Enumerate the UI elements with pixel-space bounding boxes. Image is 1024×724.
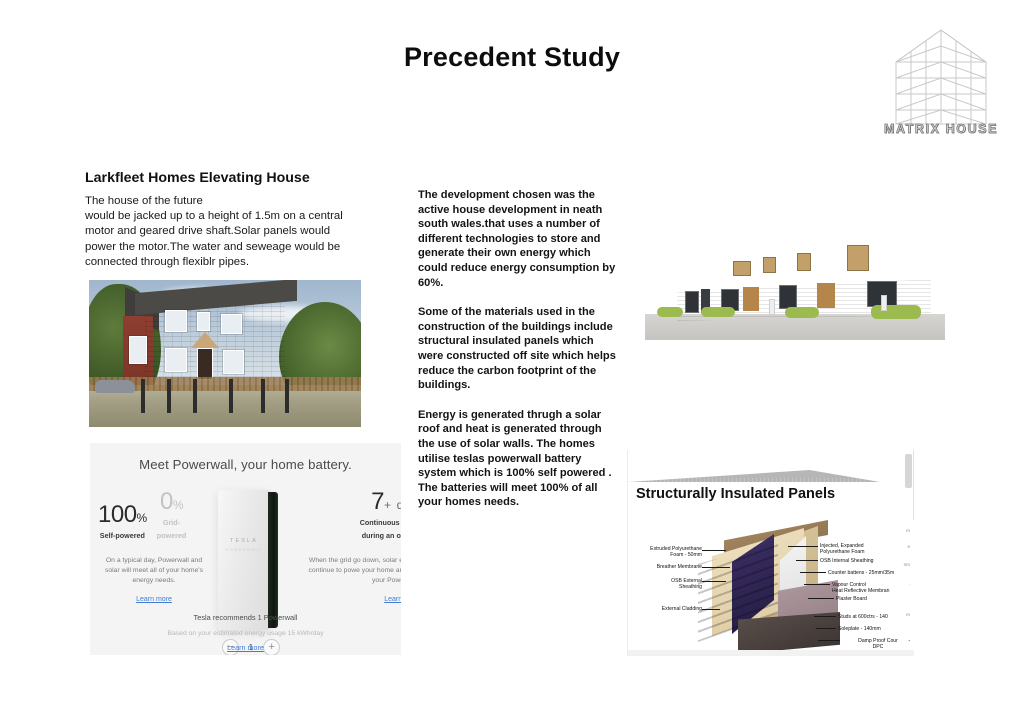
sip-label-extruded-foam: Extruded Polyurethane Foam - 50mm — [628, 546, 702, 559]
outage-label-line1: Continuous powe — [308, 518, 401, 527]
sip-leader-line — [702, 567, 730, 568]
powerwall-grid-powered-stat: 0% Grid- powered — [157, 490, 187, 540]
photo-stilt — [167, 379, 171, 413]
sip-label-counter-battens: Counter battens - 25mm/35m — [828, 570, 914, 576]
grid-powered-label-line1: Grid- — [157, 518, 187, 527]
render-bollard — [769, 299, 775, 315]
powerwall-right-blurb: When the grid go down, solar energy cont… — [308, 556, 401, 586]
photo-window — [165, 310, 187, 332]
photo-car — [95, 380, 135, 393]
render-window-dark — [685, 291, 699, 313]
photo-window — [197, 312, 210, 331]
photo-window-bay — [129, 336, 147, 364]
self-powered-value: 100% — [98, 503, 147, 527]
render-window — [763, 257, 776, 273]
sip-leader-line — [808, 598, 834, 599]
render-window — [797, 253, 811, 271]
photo-stilt — [285, 379, 289, 413]
render-window — [847, 245, 869, 271]
render-window — [733, 261, 751, 276]
sip-leader-line — [804, 584, 830, 585]
sip-diagram-panel: Structurally Insulated Panels Extruded P… — [627, 450, 914, 656]
paragraph-materials: Some of the materials used in the constr… — [418, 305, 618, 393]
grid-powered-label-line2: powered — [157, 531, 187, 540]
active-house-render — [645, 195, 945, 340]
powerwall-recommendation: Tesla recommends 1 Powerwall — [90, 613, 401, 622]
sip-label-external-cladding: External Cladding — [628, 606, 702, 612]
sip-leader-line — [800, 572, 826, 573]
slide-canvas: Precedent Study — [0, 0, 1024, 724]
render-hedge — [785, 307, 819, 318]
photo-stilt — [141, 379, 145, 413]
powerwall-left-learn-more-link[interactable]: Learn more — [136, 596, 172, 603]
sip-edge-tick: · — [908, 582, 910, 587]
photo-stilt — [229, 379, 233, 413]
development-description: The development chosen was the active ho… — [418, 188, 618, 525]
render-hedge — [657, 307, 683, 317]
sip-illustration: Extruded Polyurethane Foam - 50mm Breath… — [628, 520, 914, 656]
sip-label-soleplate: Soleplate - 140mm — [838, 626, 914, 632]
sip-label-breather-membrane: Breather Membrane — [632, 564, 702, 570]
powerwall-left-column: 100% Self-powered 0% Grid- powered On a … — [98, 490, 210, 606]
powerwall-right-column: 7+ days Continuous powe during an outage… — [308, 490, 401, 606]
larkfleet-heading: Larkfleet Homes Elevating House — [85, 170, 415, 186]
render-hedge — [871, 305, 921, 319]
powerwall-unit-image: TESLA POWERWALL — [218, 490, 280, 630]
sip-label-injected-foam: Injected, Expanded Polyurethane Foam — [820, 543, 914, 556]
powerwall-bottom-learn-more-link[interactable]: Learn more — [90, 643, 401, 652]
sip-label-osb-internal: OSB Internal Sheathing — [820, 558, 914, 564]
sip-leader-line — [702, 609, 720, 610]
sip-footer-strip — [628, 650, 914, 656]
powerwall-left-blurb: On a typical day, Powerwall and solar wi… — [98, 556, 210, 586]
photo-window — [165, 348, 187, 372]
logo-wordmark: MATRIX HOUSE — [878, 122, 1004, 136]
grid-powered-value: 0% — [157, 490, 187, 514]
photo-front-door — [197, 348, 213, 380]
powerwall-stat-row: 100% Self-powered 0% Grid- powered — [98, 490, 210, 540]
elevated-house-photo — [89, 280, 361, 427]
render-window-dark — [779, 285, 797, 309]
sip-leader-line — [818, 640, 840, 641]
tesla-wordmark: TESLA — [218, 538, 270, 544]
sip-leader-line — [788, 546, 818, 547]
photo-stilt — [193, 379, 197, 413]
sip-label-studs: Studs at 600ctrs - 140 — [838, 614, 914, 620]
photo-window — [221, 314, 242, 334]
sip-leader-line — [702, 581, 726, 582]
sip-label-damp-proof-course: Damp Proof Cour DPC — [842, 638, 914, 651]
sip-edge-tick: m — [906, 528, 910, 533]
sip-scrollbar[interactable] — [905, 454, 912, 488]
render-door — [743, 287, 759, 311]
paragraph-energy: Energy is generated thrugh a solar roof … — [418, 408, 618, 510]
sip-label-vapour-control: Vapour Control Heat Reflective Membran — [832, 582, 914, 595]
sip-label-osb-external: OSB External Sheathing — [638, 578, 702, 591]
sip-title: Structurally Insulated Panels — [636, 486, 835, 502]
paragraph-development: The development chosen was the active ho… — [418, 188, 618, 290]
photo-window — [223, 350, 244, 374]
larkfleet-body: The house of the future would be jacked … — [85, 194, 355, 270]
sip-leader-line — [816, 628, 836, 629]
sip-leader-line — [796, 560, 818, 561]
powerwall-unit-side — [268, 492, 278, 628]
sip-label-plaster-board: Plaster Board — [836, 596, 914, 602]
powerwall-usage-basis: Based on your estimated energy usage 15 … — [90, 630, 401, 637]
powerwall-subwordmark: POWERWALL — [218, 547, 270, 552]
powerwall-unit-front — [218, 490, 270, 630]
outage-label-line2: during an outage — [308, 531, 401, 540]
render-hedge — [701, 307, 735, 317]
sip-edge-tick: nm — [904, 562, 910, 567]
sip-edge-tick: m — [906, 612, 910, 617]
render-door — [817, 283, 835, 308]
outage-days-value: 7+ days — [308, 490, 401, 514]
self-powered-label: Self-powered — [98, 531, 147, 540]
powerwall-panel: Meet Powerwall, your home battery. 100% … — [90, 443, 401, 655]
sip-leader-line — [814, 616, 836, 617]
sip-edge-tick: ▪ — [908, 638, 910, 643]
powerwall-right-learn-more-link[interactable]: Learn more — [384, 596, 401, 603]
matrix-house-logo: MATRIX HOUSE — [878, 24, 1004, 140]
photo-stilt — [261, 379, 265, 413]
page-title: Precedent Study — [0, 42, 1024, 73]
powerwall-title: Meet Powerwall, your home battery. — [90, 457, 401, 472]
render-bollard — [881, 295, 887, 311]
powerwall-self-powered-stat: 100% Self-powered — [98, 503, 147, 540]
sip-edge-tick: e — [907, 544, 910, 549]
sip-leader-line — [702, 550, 726, 551]
